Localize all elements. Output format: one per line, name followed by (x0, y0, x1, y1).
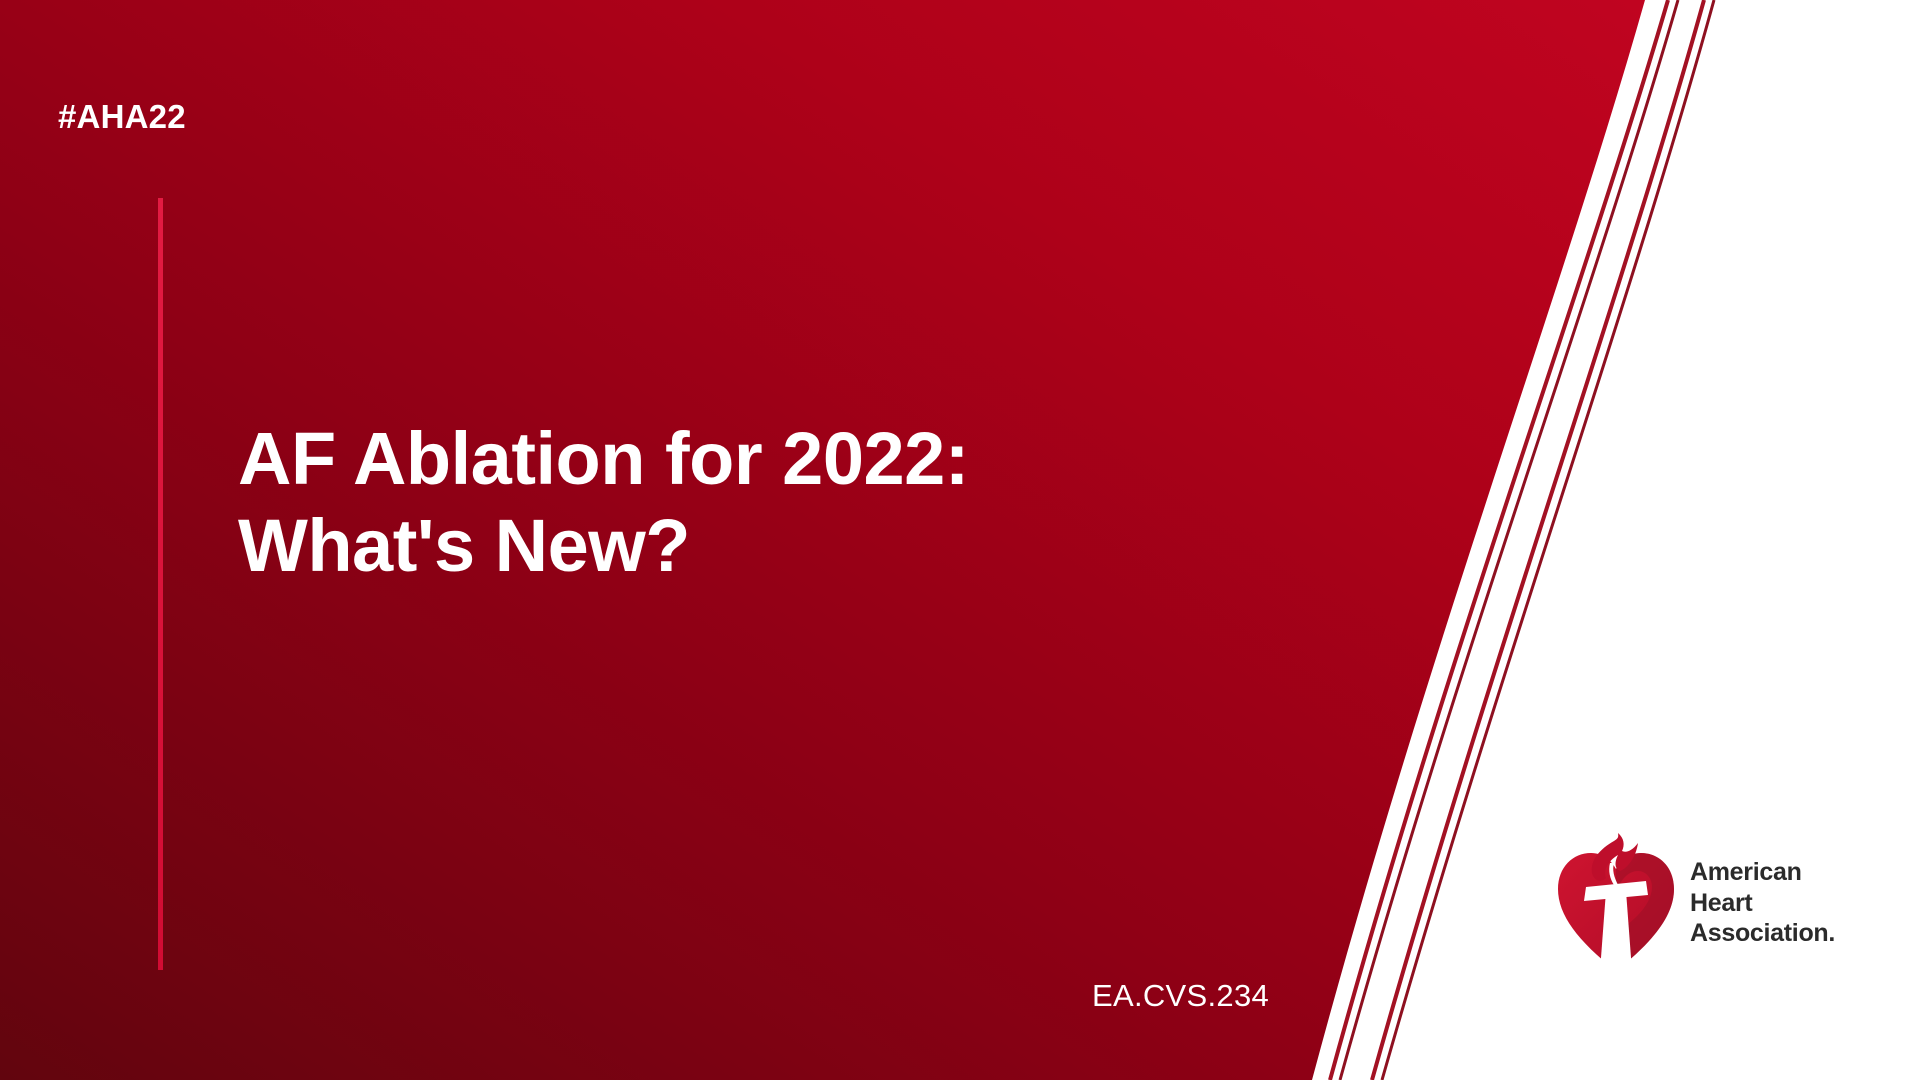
title-line-1: AF Ablation for 2022: (238, 415, 1238, 502)
aha-heart-torch-icon (1556, 833, 1676, 973)
event-hashtag: #AHA22 (58, 98, 186, 136)
aha-wordmark: American Heart Association. (1690, 857, 1835, 949)
vertical-accent-rule (158, 198, 163, 970)
aha-wordmark-line-1: American (1690, 857, 1835, 888)
aha-wordmark-line-3: Association. (1690, 918, 1835, 949)
session-code: EA.CVS.234 (1092, 978, 1269, 1014)
aha-wordmark-line-2: Heart (1690, 888, 1835, 919)
slide-canvas: #AHA22 AF Ablation for 2022: What's New?… (0, 0, 1920, 1080)
aha-logo: American Heart Association. (1556, 828, 1866, 978)
title-line-2: What's New? (238, 502, 1238, 589)
page-title: AF Ablation for 2022: What's New? (238, 415, 1238, 590)
